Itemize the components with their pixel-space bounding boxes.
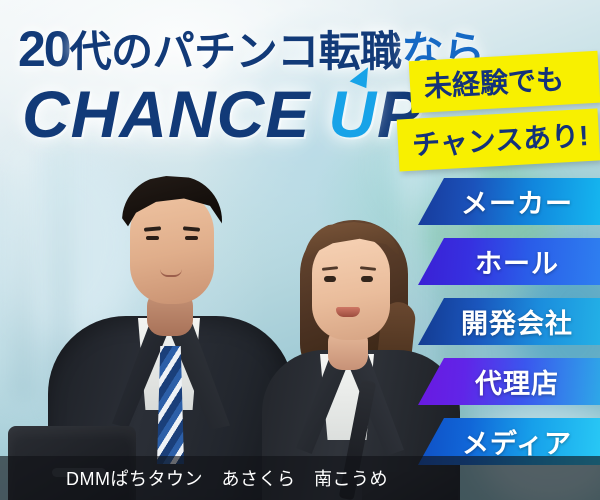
businesswoman-mouth (336, 307, 360, 317)
chance-up-logo: CHANCEUP (22, 76, 422, 152)
striped-necktie (157, 346, 184, 464)
businesswoman-face (312, 234, 390, 340)
logo-letter-u: U (328, 77, 377, 151)
businessman-figure (46, 168, 296, 500)
logo-word-chance: CHANCE (22, 77, 310, 151)
callout-line-two: チャンスあり! (397, 108, 600, 171)
businessman-eye-right (185, 236, 198, 240)
menu-item-maker[interactable]: メーカー (418, 178, 600, 225)
category-menu: メーカー ホール 開発会社 代理店 メディア (418, 178, 600, 465)
credit-text: DMMぱちタウン あさくら 南こうめ (0, 465, 388, 491)
businesswoman-eye-right (361, 276, 373, 282)
menu-item-agency[interactable]: 代理店 (418, 358, 600, 405)
menu-item-label: 代理店 (459, 362, 559, 401)
headline-middle: 代のパチンコ転職 (70, 28, 402, 75)
callout-badge: 未経験でも チャンスあり! (400, 56, 599, 166)
advertisement-banner[interactable]: 20代のパチンコ転職なら CHANCEUP 未経験でも チャンスあり! メーカー… (0, 0, 600, 500)
headline-number: 20 (18, 21, 70, 77)
menu-item-development-company[interactable]: 開発会社 (418, 298, 600, 345)
credit-bar: DMMぱちタウン あさくら 南こうめ (0, 456, 600, 500)
businessman-eye-left (146, 236, 159, 240)
menu-item-label: ホール (459, 242, 559, 281)
menu-item-hall[interactable]: ホール (418, 238, 600, 285)
businesswoman-eye-left (324, 276, 336, 282)
menu-item-label: 開発会社 (445, 302, 573, 341)
callout-line-one: 未経験でも (409, 51, 600, 113)
menu-item-label: メーカー (445, 182, 573, 221)
